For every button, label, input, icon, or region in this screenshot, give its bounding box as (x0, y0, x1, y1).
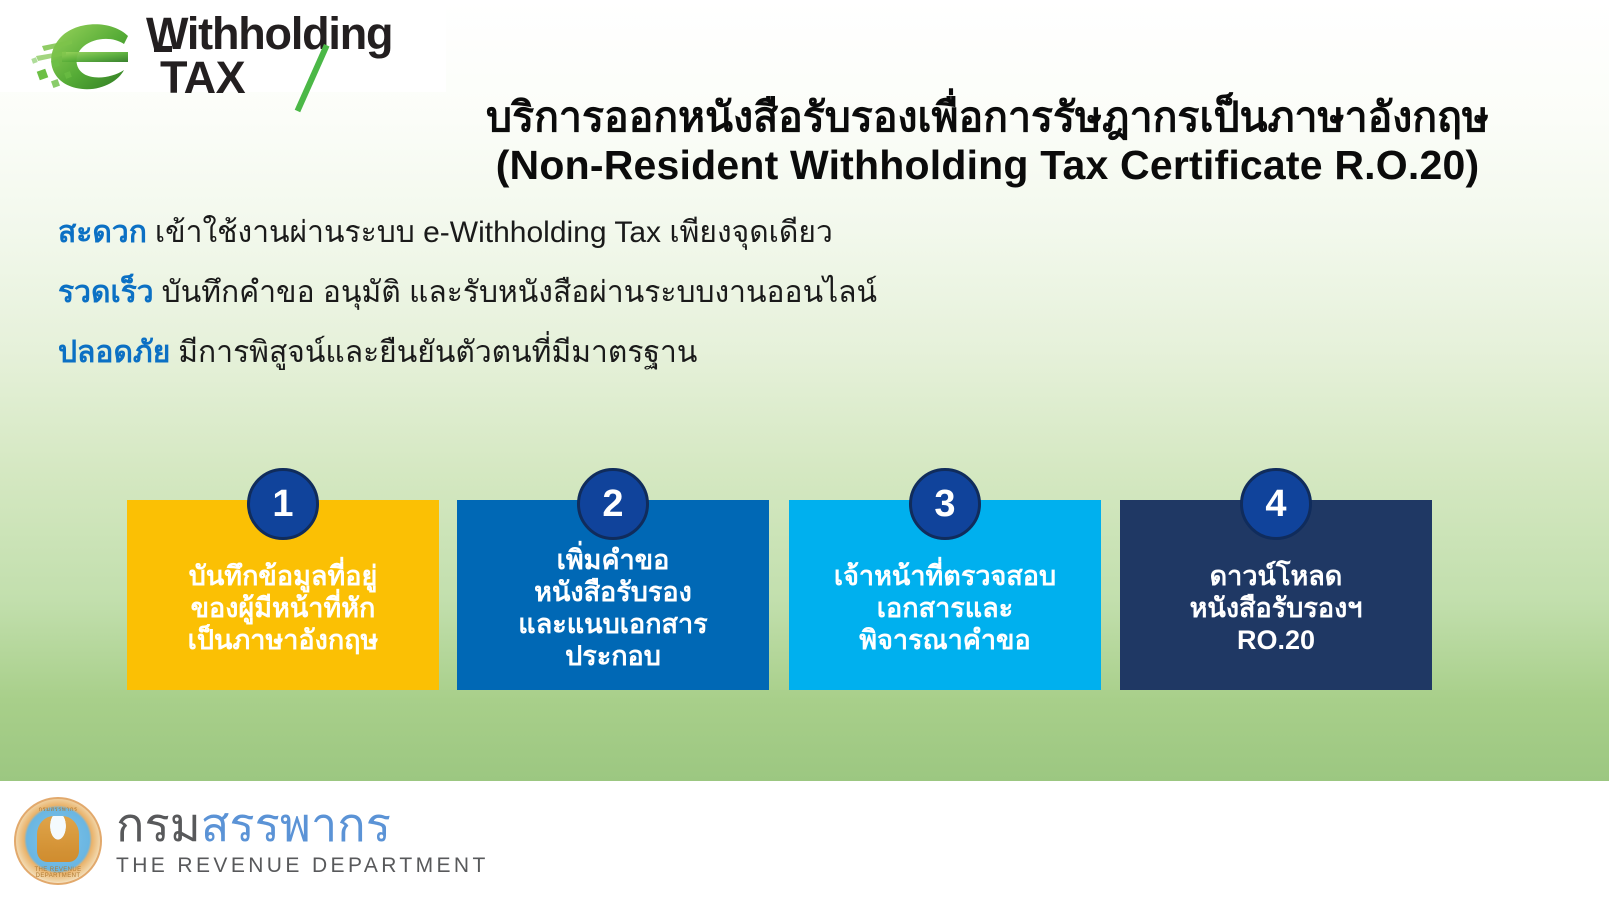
title-thai: บริการออกหนังสือรับรองเพื่อการรัษฎากรเป็… (380, 96, 1595, 140)
process-steps: บันทึกข้อมูลที่อยู่ ของผู้มีหน้าที่หัก เ… (0, 428, 1609, 690)
seal-ring-text-bottom: THE REVENUE DEPARTMENT (16, 867, 100, 879)
process-step-4[interactable]: ดาวน์โหลด หนังสือรับรองฯ RO.20 4 (1120, 468, 1432, 690)
process-step-3[interactable]: เจ้าหน้าที่ตรวจสอบ เอกสารและ พิจารณาคำขอ… (789, 468, 1101, 690)
footer: กรมสรรพากร THE REVENUE DEPARTMENT กรมสรร… (0, 781, 1609, 903)
step-2-label: เพิ่มคำขอ หนังสือรับรอง และแนบเอกสาร ประ… (518, 545, 707, 672)
revenue-department-seal-icon: กรมสรรพากร THE REVENUE DEPARTMENT (14, 797, 102, 885)
department-thai-blue: สรรพากร (201, 798, 391, 851)
process-step-2[interactable]: เพิ่มคำขอ หนังสือรับรอง และแนบเอกสาร ประ… (457, 468, 769, 690)
department-thai-dark: กรม (116, 798, 201, 851)
page-title: บริการออกหนังสือรับรองเพื่อการรัษฎากรเป็… (380, 96, 1595, 188)
step-1-number-badge: 1 (247, 468, 319, 540)
green-e-icon (32, 18, 152, 96)
benefit-item: ปลอดภัยมีการพิสูจน์และยืนยันตัวตนที่มีมา… (58, 338, 1158, 368)
benefit-item: รวดเร็วบันทึกคำขอ อนุมัติ และรับหนังสือผ… (58, 278, 1158, 308)
step-4-label: ดาวน์โหลด หนังสือรับรองฯ RO.20 (1190, 561, 1363, 657)
step-3-label: เจ้าหน้าที่ตรวจสอบ เอกสารและ พิจารณาคำขอ (834, 561, 1056, 657)
benefit-keyword: รวดเร็ว (58, 276, 154, 309)
logo-e-mark (32, 18, 152, 96)
benefit-text: มีการพิสูจน์และยืนยันตัวตนที่มีมาตรฐาน (178, 336, 697, 369)
benefit-text: เข้าใช้งานผ่านระบบ e-Withholding Tax เพี… (155, 216, 833, 249)
step-2-number-badge: 2 (577, 468, 649, 540)
poster-canvas: Withholding TAX บริการออกหนังสือรับรองเพ… (0, 0, 1609, 903)
step-3-number-badge: 3 (909, 468, 981, 540)
benefit-text: บันทึกคำขอ อนุมัติ และรับหนังสือผ่านระบบ… (162, 276, 877, 309)
benefit-keyword: สะดวก (58, 216, 147, 249)
benefits-list: สะดวกเข้าใช้งานผ่านระบบ e-Withholding Ta… (58, 218, 1158, 398)
benefit-item: สะดวกเข้าใช้งานผ่านระบบ e-Withholding Ta… (58, 218, 1158, 248)
seal-figure (37, 816, 79, 862)
benefit-keyword: ปลอดภัย (58, 336, 170, 369)
step-1-label: บันทึกข้อมูลที่อยู่ ของผู้มีหน้าที่หัก เ… (188, 561, 379, 657)
revenue-department-wordmark: กรมสรรพากร THE REVENUE DEPARTMENT (116, 801, 476, 878)
step-4-number-badge: 4 (1240, 468, 1312, 540)
process-step-1[interactable]: บันทึกข้อมูลที่อยู่ ของผู้มีหน้าที่หัก เ… (127, 468, 439, 690)
department-english: THE REVENUE DEPARTMENT (116, 854, 476, 878)
seal-ring-text-top: กรมสรรพากร (16, 804, 100, 814)
title-english: (Non-Resident Withholding Tax Certificat… (380, 144, 1595, 188)
logo-text-tax: TAX (160, 52, 245, 103)
e-withholding-tax-logo: Withholding TAX (0, 0, 446, 92)
